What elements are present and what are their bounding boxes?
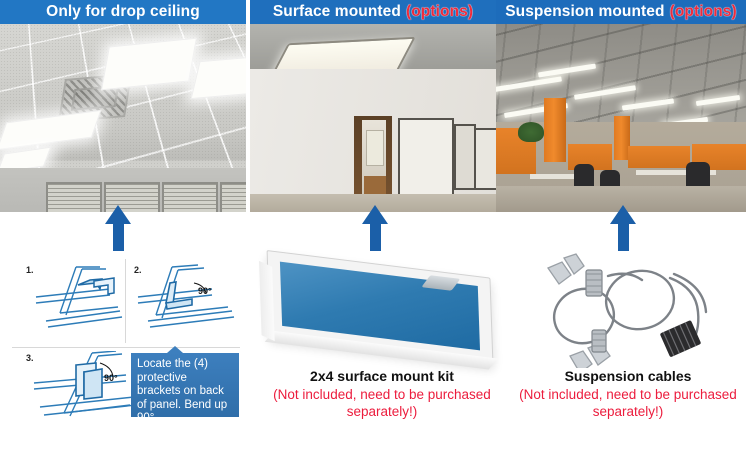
cubicle-partition [628, 146, 690, 168]
bracket-instruction-diagrams: 1. 2. [8, 255, 244, 431]
window-blind [162, 182, 218, 212]
wall-partition [474, 128, 496, 190]
caption-surface-mount-kit: 2x4 surface mount kit (Not included, nee… [258, 368, 506, 420]
mounting-options-row: Only for drop ceiling [0, 0, 750, 214]
product-title: Suspension cables [506, 368, 750, 384]
photo-drop-ceiling [0, 24, 246, 212]
banner-option-tag: (options) [670, 3, 737, 21]
bracket-callout-box: Locate the (4) protective brackets on ba… [131, 353, 239, 417]
product-image-suspension-cables [524, 252, 736, 368]
potted-plant [518, 122, 544, 142]
callout-text: Locate the (4) protective brackets on ba… [137, 358, 227, 424]
window-blind [46, 182, 102, 212]
panel-surface-mounted: Surface mounted (options) [250, 0, 496, 214]
arrow-stem [113, 221, 124, 251]
banner-surface-mounted: Surface mounted (options) [250, 0, 496, 24]
product-note: (Not included, need to be purchased sepa… [258, 387, 506, 420]
photo-surface-mounted [250, 24, 496, 212]
arrow-up-icon-surface-kit [362, 205, 388, 251]
arrow-up-icon-drop-ceiling [105, 205, 131, 251]
kit-side-edge [259, 261, 275, 341]
product-title: 2x4 surface mount kit [258, 368, 506, 384]
drop-ceiling-scene [0, 24, 246, 212]
banner-title: Surface mounted [273, 3, 401, 21]
product-info-graphic: Only for drop ceiling [0, 0, 750, 464]
kit-frame [267, 250, 494, 364]
arrow-stem [618, 221, 629, 251]
panel-drop-ceiling: Only for drop ceiling [0, 0, 246, 214]
arrow-stem [370, 221, 381, 251]
led-panel-light [191, 55, 246, 99]
carabiner-hook [548, 262, 571, 284]
window-blind [220, 182, 246, 212]
product-note: (Not included, need to be purchased sepa… [506, 387, 750, 420]
diagram-divider-horizontal [12, 347, 240, 348]
diagram-step-1 [30, 263, 126, 341]
cable-gripper [592, 330, 606, 352]
angle-label-step-3: 90° [104, 373, 118, 383]
structural-column [544, 98, 566, 162]
ceiling-conduits [496, 24, 746, 122]
panel-suspension-mounted: Suspension mounted (options) [496, 0, 746, 214]
surface-mount-scene [250, 24, 496, 212]
diagram-step-2: 90° [136, 263, 236, 341]
cabinet [366, 130, 384, 166]
cable-gripper [586, 270, 602, 296]
diagram-step-3: 90° [30, 351, 140, 431]
carabiner-hook [570, 351, 592, 368]
callout-pointer [167, 346, 183, 353]
suspension-scene [496, 24, 746, 212]
banner-drop-ceiling: Only for drop ceiling [0, 0, 246, 24]
banner-option-tag: (options) [406, 3, 473, 21]
banner-title: Only for drop ceiling [46, 3, 200, 21]
suspension-cable-drawing [524, 252, 736, 368]
product-image-surface-mount-kit [262, 258, 502, 366]
arrow-up-icon-suspension-cables [610, 205, 636, 251]
wall-partition [454, 124, 476, 190]
photo-suspension-mounted [496, 24, 746, 212]
black-cable-clamps [660, 320, 702, 358]
banner-suspension-mounted: Suspension mounted (options) [496, 0, 746, 24]
bottom-row: 1. 2. [0, 250, 750, 464]
caption-suspension-cables: Suspension cables (Not included, need to… [506, 368, 750, 420]
banner-title: Suspension mounted [505, 3, 664, 21]
